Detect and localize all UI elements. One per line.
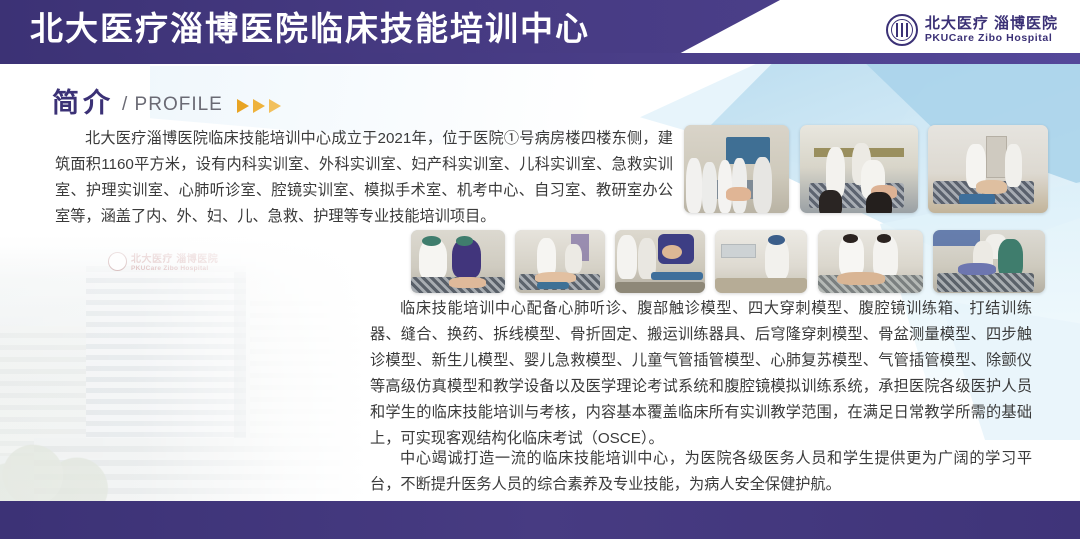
photo-row2-1 xyxy=(411,230,505,293)
photo-row2-2 xyxy=(515,230,605,293)
photo-drape xyxy=(958,263,996,276)
header-bottom-strip xyxy=(0,53,1080,64)
photo-cap xyxy=(768,235,785,245)
photo-bed xyxy=(937,273,1033,292)
arrow-right-icon xyxy=(253,99,265,113)
photo-foreground-head xyxy=(819,190,843,213)
poster-page: 北大医疗 淄博医院 PKUCare Zibo Hospital xyxy=(0,0,1080,539)
photo-blue-mat xyxy=(537,282,569,290)
section-heading-en: / PROFILE xyxy=(122,92,223,118)
photo-manikin xyxy=(726,187,751,201)
photo-person xyxy=(617,235,637,279)
hospital-seal-icon xyxy=(886,14,918,46)
photo-person xyxy=(753,157,772,213)
arrow-right-icon xyxy=(237,99,249,113)
brand-name-en: PKUCare Zibo Hospital xyxy=(925,33,1058,44)
hospital-building-photo: 北大医疗 淄博医院 PKUCare Zibo Hospital xyxy=(0,236,396,502)
section-heading-cn: 简介 xyxy=(52,88,114,118)
heading-arrows xyxy=(237,99,281,118)
photo-foreground-head xyxy=(866,192,892,213)
photo-row1-2 xyxy=(800,125,918,213)
photo-manikin xyxy=(837,272,885,286)
photo-person xyxy=(718,160,733,213)
photo-row2-4 xyxy=(715,230,807,293)
photo-wall-panel xyxy=(933,230,980,246)
paragraph-mission: 中心竭诚打造一流的临床技能培训中心，为医院各级医务人员和学生提供更为广阔的学习平… xyxy=(370,446,1032,498)
photo-manikin xyxy=(976,180,1007,194)
photo-door xyxy=(986,136,1007,178)
photo-person xyxy=(565,244,581,273)
paragraph-equipment: 临床技能培训中心配备心肺听诊、腹部触诊模型、四大穿刺模型、腹腔镜训练箱、打结训练… xyxy=(370,296,1032,452)
arrow-right-icon xyxy=(269,99,281,113)
photo-equipment xyxy=(721,244,756,259)
brand-name-cn: 北大医疗 淄博医院 xyxy=(925,16,1058,32)
photo-hair xyxy=(843,234,858,243)
photo-row2-3 xyxy=(615,230,705,293)
photo-row1-1 xyxy=(684,125,789,213)
photo-manikin xyxy=(662,245,682,259)
brand-text: 北大医疗 淄博医院 PKUCare Zibo Hospital xyxy=(925,16,1058,45)
building-fade-right xyxy=(0,236,396,502)
photo-row2-6 xyxy=(933,230,1045,293)
page-footer xyxy=(0,501,1080,539)
hospital-brand-logo: 北大医疗 淄博医院 PKUCare Zibo Hospital xyxy=(886,14,1058,46)
photo-person xyxy=(537,238,557,277)
photo-floor xyxy=(715,278,807,293)
photo-person xyxy=(1005,144,1022,186)
page-title: 北大医疗淄博医院临床技能培训中心 xyxy=(30,8,590,50)
photo-blue-mat xyxy=(651,272,703,281)
photo-row2-5 xyxy=(818,230,923,293)
photo-surgical-cap xyxy=(456,236,473,245)
photo-hair xyxy=(877,234,892,243)
photo-manikin xyxy=(449,277,487,288)
photo-floor xyxy=(615,282,705,293)
paragraph-intro: 北大医疗淄博医院临床技能培训中心成立于2021年，位于医院①号病房楼四楼东侧，建… xyxy=(55,126,673,230)
photo-person xyxy=(686,158,702,213)
photo-person xyxy=(702,162,717,213)
photo-blue-mat xyxy=(959,194,995,205)
photo-person xyxy=(732,158,747,213)
photo-row1-3 xyxy=(928,125,1048,213)
section-heading: 简介 / PROFILE xyxy=(52,88,281,118)
